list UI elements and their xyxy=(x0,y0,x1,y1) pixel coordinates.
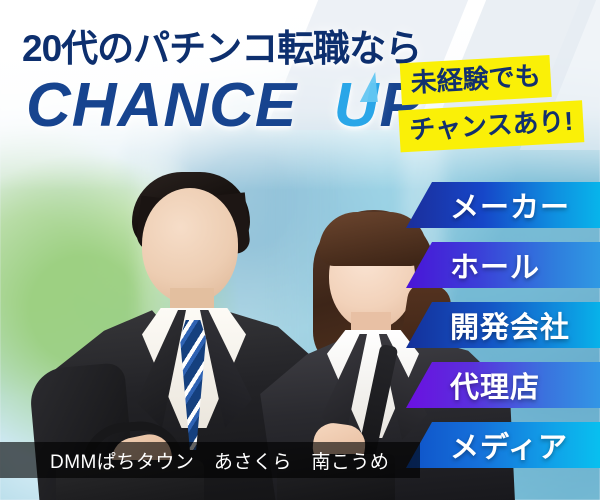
category-item-developer[interactable]: 開発会社 xyxy=(428,302,600,348)
credit-strip: DMMぱちタウン あさくら 南こうめ xyxy=(0,442,420,478)
category-list: メーカー ホール 開発会社 代理店 メディア xyxy=(0,182,600,482)
chance-up-logo: CHANCE UP xyxy=(26,70,422,141)
headline-text: 20代のパチンコ転職なら xyxy=(22,18,421,72)
logo-letter-u: U xyxy=(334,70,380,141)
category-item-hall[interactable]: ホール xyxy=(428,242,600,288)
category-item-agency[interactable]: 代理店 xyxy=(428,362,600,408)
category-label: メーカー xyxy=(450,182,600,228)
logo-word-chance: CHANCE xyxy=(26,71,297,140)
promo-badge: 未経験でも チャンスあり! xyxy=(396,53,597,153)
credit-names: DMMぱちタウン あさくら 南こうめ xyxy=(0,447,389,474)
promo-badge-line-1: 未経験でも xyxy=(400,55,552,105)
category-label: 代理店 xyxy=(450,362,600,408)
category-label: メディア xyxy=(450,422,600,468)
category-item-maker[interactable]: メーカー xyxy=(428,182,600,228)
ad-banner[interactable]: 20代のパチンコ転職なら CHANCE UP 未経験でも チャンスあり! メーカ… xyxy=(0,0,600,500)
category-item-media[interactable]: メディア xyxy=(428,422,600,468)
category-label: ホール xyxy=(450,242,600,288)
category-label: 開発会社 xyxy=(450,302,600,348)
